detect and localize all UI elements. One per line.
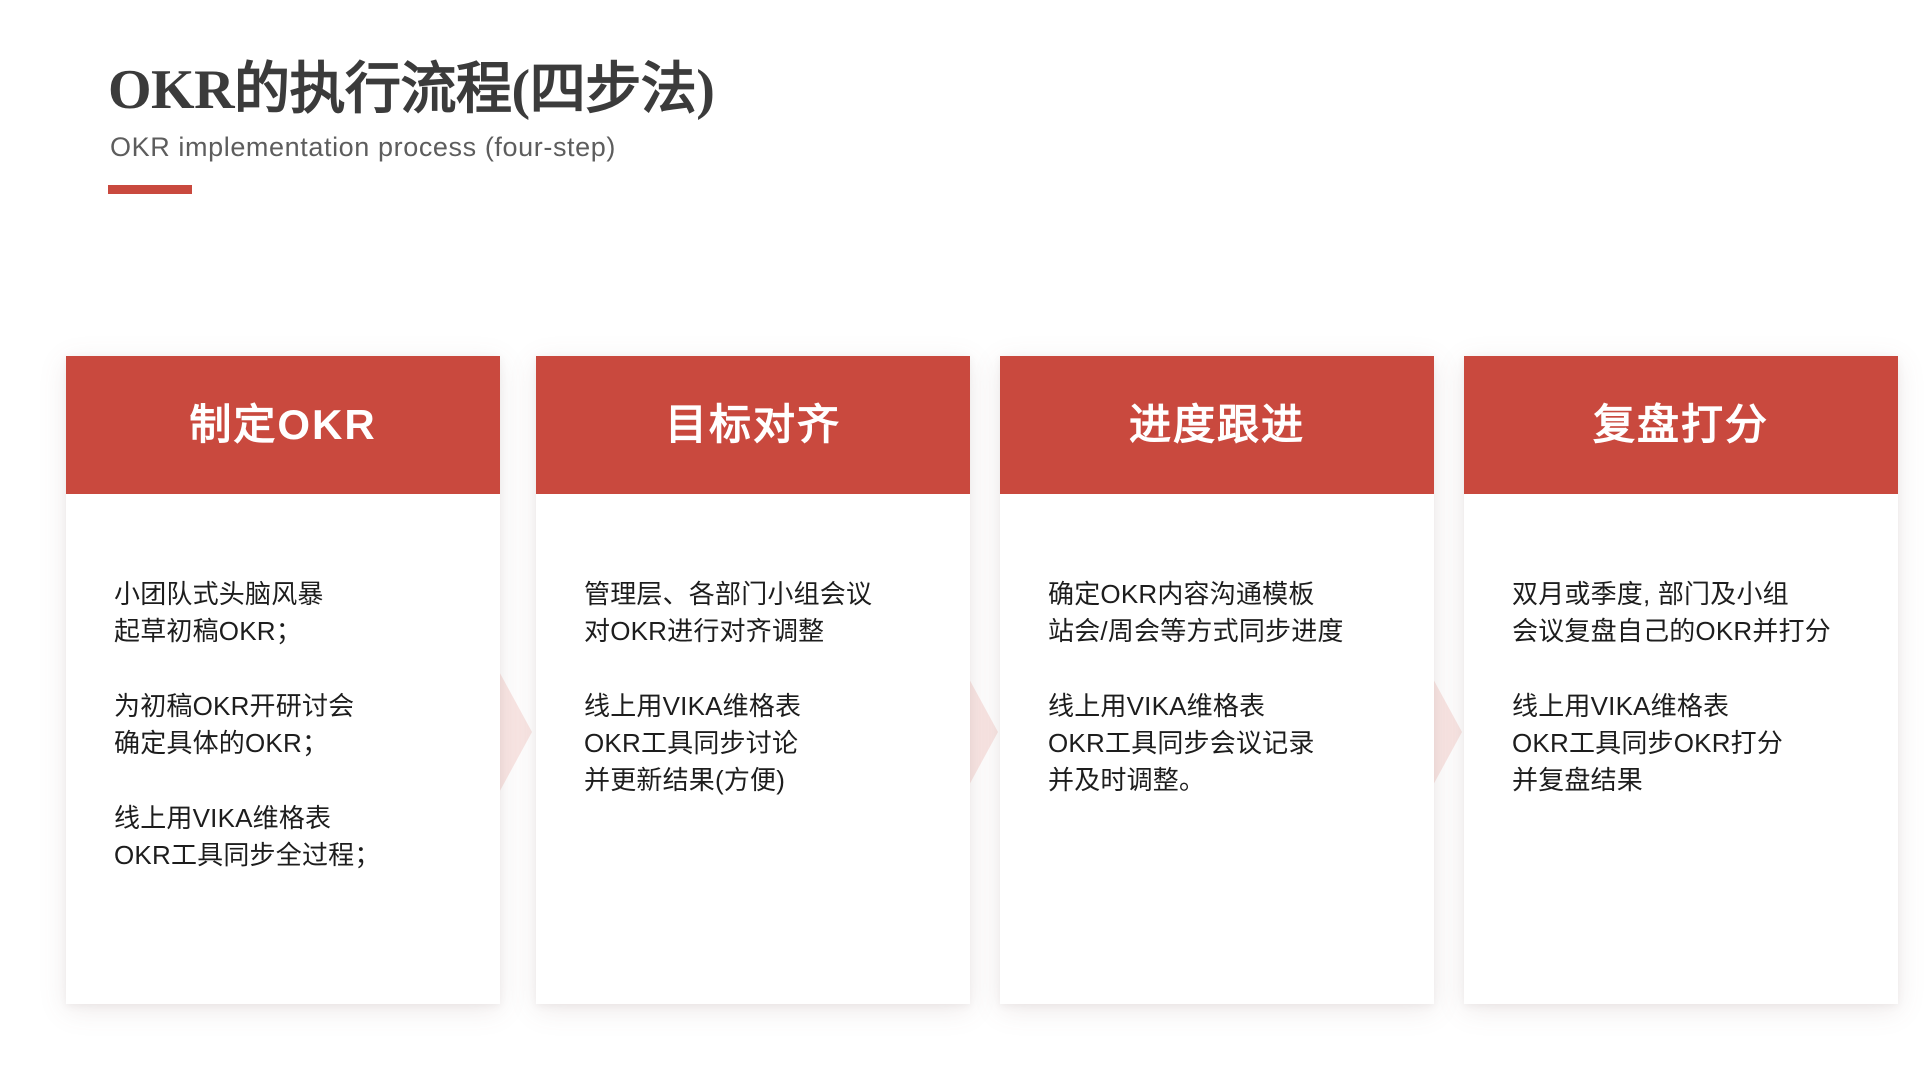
card-header-4: 复盘打分	[1464, 356, 1898, 494]
process-step-card-2[interactable]: 目标对齐 管理层、各部门小组会议 对OKR进行对齐调整 线上用VIKA维格表 O…	[536, 356, 970, 1004]
card-title-2: 目标对齐	[665, 404, 841, 446]
card-title-4: 复盘打分	[1593, 404, 1769, 446]
card-4-paragraph-1: 双月或季度, 部门及小组 会议复盘自己的OKR并打分	[1512, 576, 1898, 650]
card-2-paragraph-1: 管理层、各部门小组会议 对OKR进行对齐调整	[584, 576, 970, 650]
card-2-paragraph-2: 线上用VIKA维格表 OKR工具同步讨论 并更新结果(方便)	[584, 688, 970, 799]
card-3-paragraph-2: 线上用VIKA维格表 OKR工具同步会议记录 并及时调整。	[1048, 688, 1434, 799]
page-title: OKR的执行流程(四步法)	[108, 58, 1008, 122]
process-steps: 制定OKR 小团队式头脑风暴 起草初稿OKR； 为初稿OKR开研讨会 确定具体的…	[0, 356, 1929, 1016]
accent-bar	[108, 185, 192, 194]
page-header: OKR的执行流程(四步法) OKR implementation process…	[108, 58, 1008, 194]
card-body-1: 小团队式头脑风暴 起草初稿OKR； 为初稿OKR开研讨会 确定具体的OKR； 线…	[66, 494, 500, 1004]
card-header-1: 制定OKR	[66, 356, 500, 494]
card-body-4: 双月或季度, 部门及小组 会议复盘自己的OKR并打分 线上用VIKA维格表 OK…	[1464, 494, 1898, 1004]
card-title-3: 进度跟进	[1129, 404, 1305, 446]
process-step-card-3[interactable]: 进度跟进 确定OKR内容沟通模板 站会/周会等方式同步进度 线上用VIKA维格表…	[1000, 356, 1434, 1004]
card-header-3: 进度跟进	[1000, 356, 1434, 494]
process-step-card-4[interactable]: 复盘打分 双月或季度, 部门及小组 会议复盘自己的OKR并打分 线上用VIKA维…	[1464, 356, 1898, 1004]
card-header-2: 目标对齐	[536, 356, 970, 494]
card-1-paragraph-2: 为初稿OKR开研讨会 确定具体的OKR；	[114, 688, 500, 762]
card-title-1: 制定OKR	[189, 404, 376, 446]
card-1-paragraph-3: 线上用VIKA维格表 OKR工具同步全过程；	[114, 800, 500, 874]
card-body-2: 管理层、各部门小组会议 对OKR进行对齐调整 线上用VIKA维格表 OKR工具同…	[536, 494, 970, 1004]
card-body-3: 确定OKR内容沟通模板 站会/周会等方式同步进度 线上用VIKA维格表 OKR工…	[1000, 494, 1434, 1004]
process-step-card-1[interactable]: 制定OKR 小团队式头脑风暴 起草初稿OKR； 为初稿OKR开研讨会 确定具体的…	[66, 356, 500, 1004]
card-3-paragraph-1: 确定OKR内容沟通模板 站会/周会等方式同步进度	[1048, 576, 1434, 650]
card-1-paragraph-1: 小团队式头脑风暴 起草初稿OKR；	[114, 576, 500, 650]
card-4-paragraph-2: 线上用VIKA维格表 OKR工具同步OKR打分 并复盘结果	[1512, 688, 1898, 799]
page-subtitle: OKR implementation process (four-step)	[110, 132, 1008, 163]
